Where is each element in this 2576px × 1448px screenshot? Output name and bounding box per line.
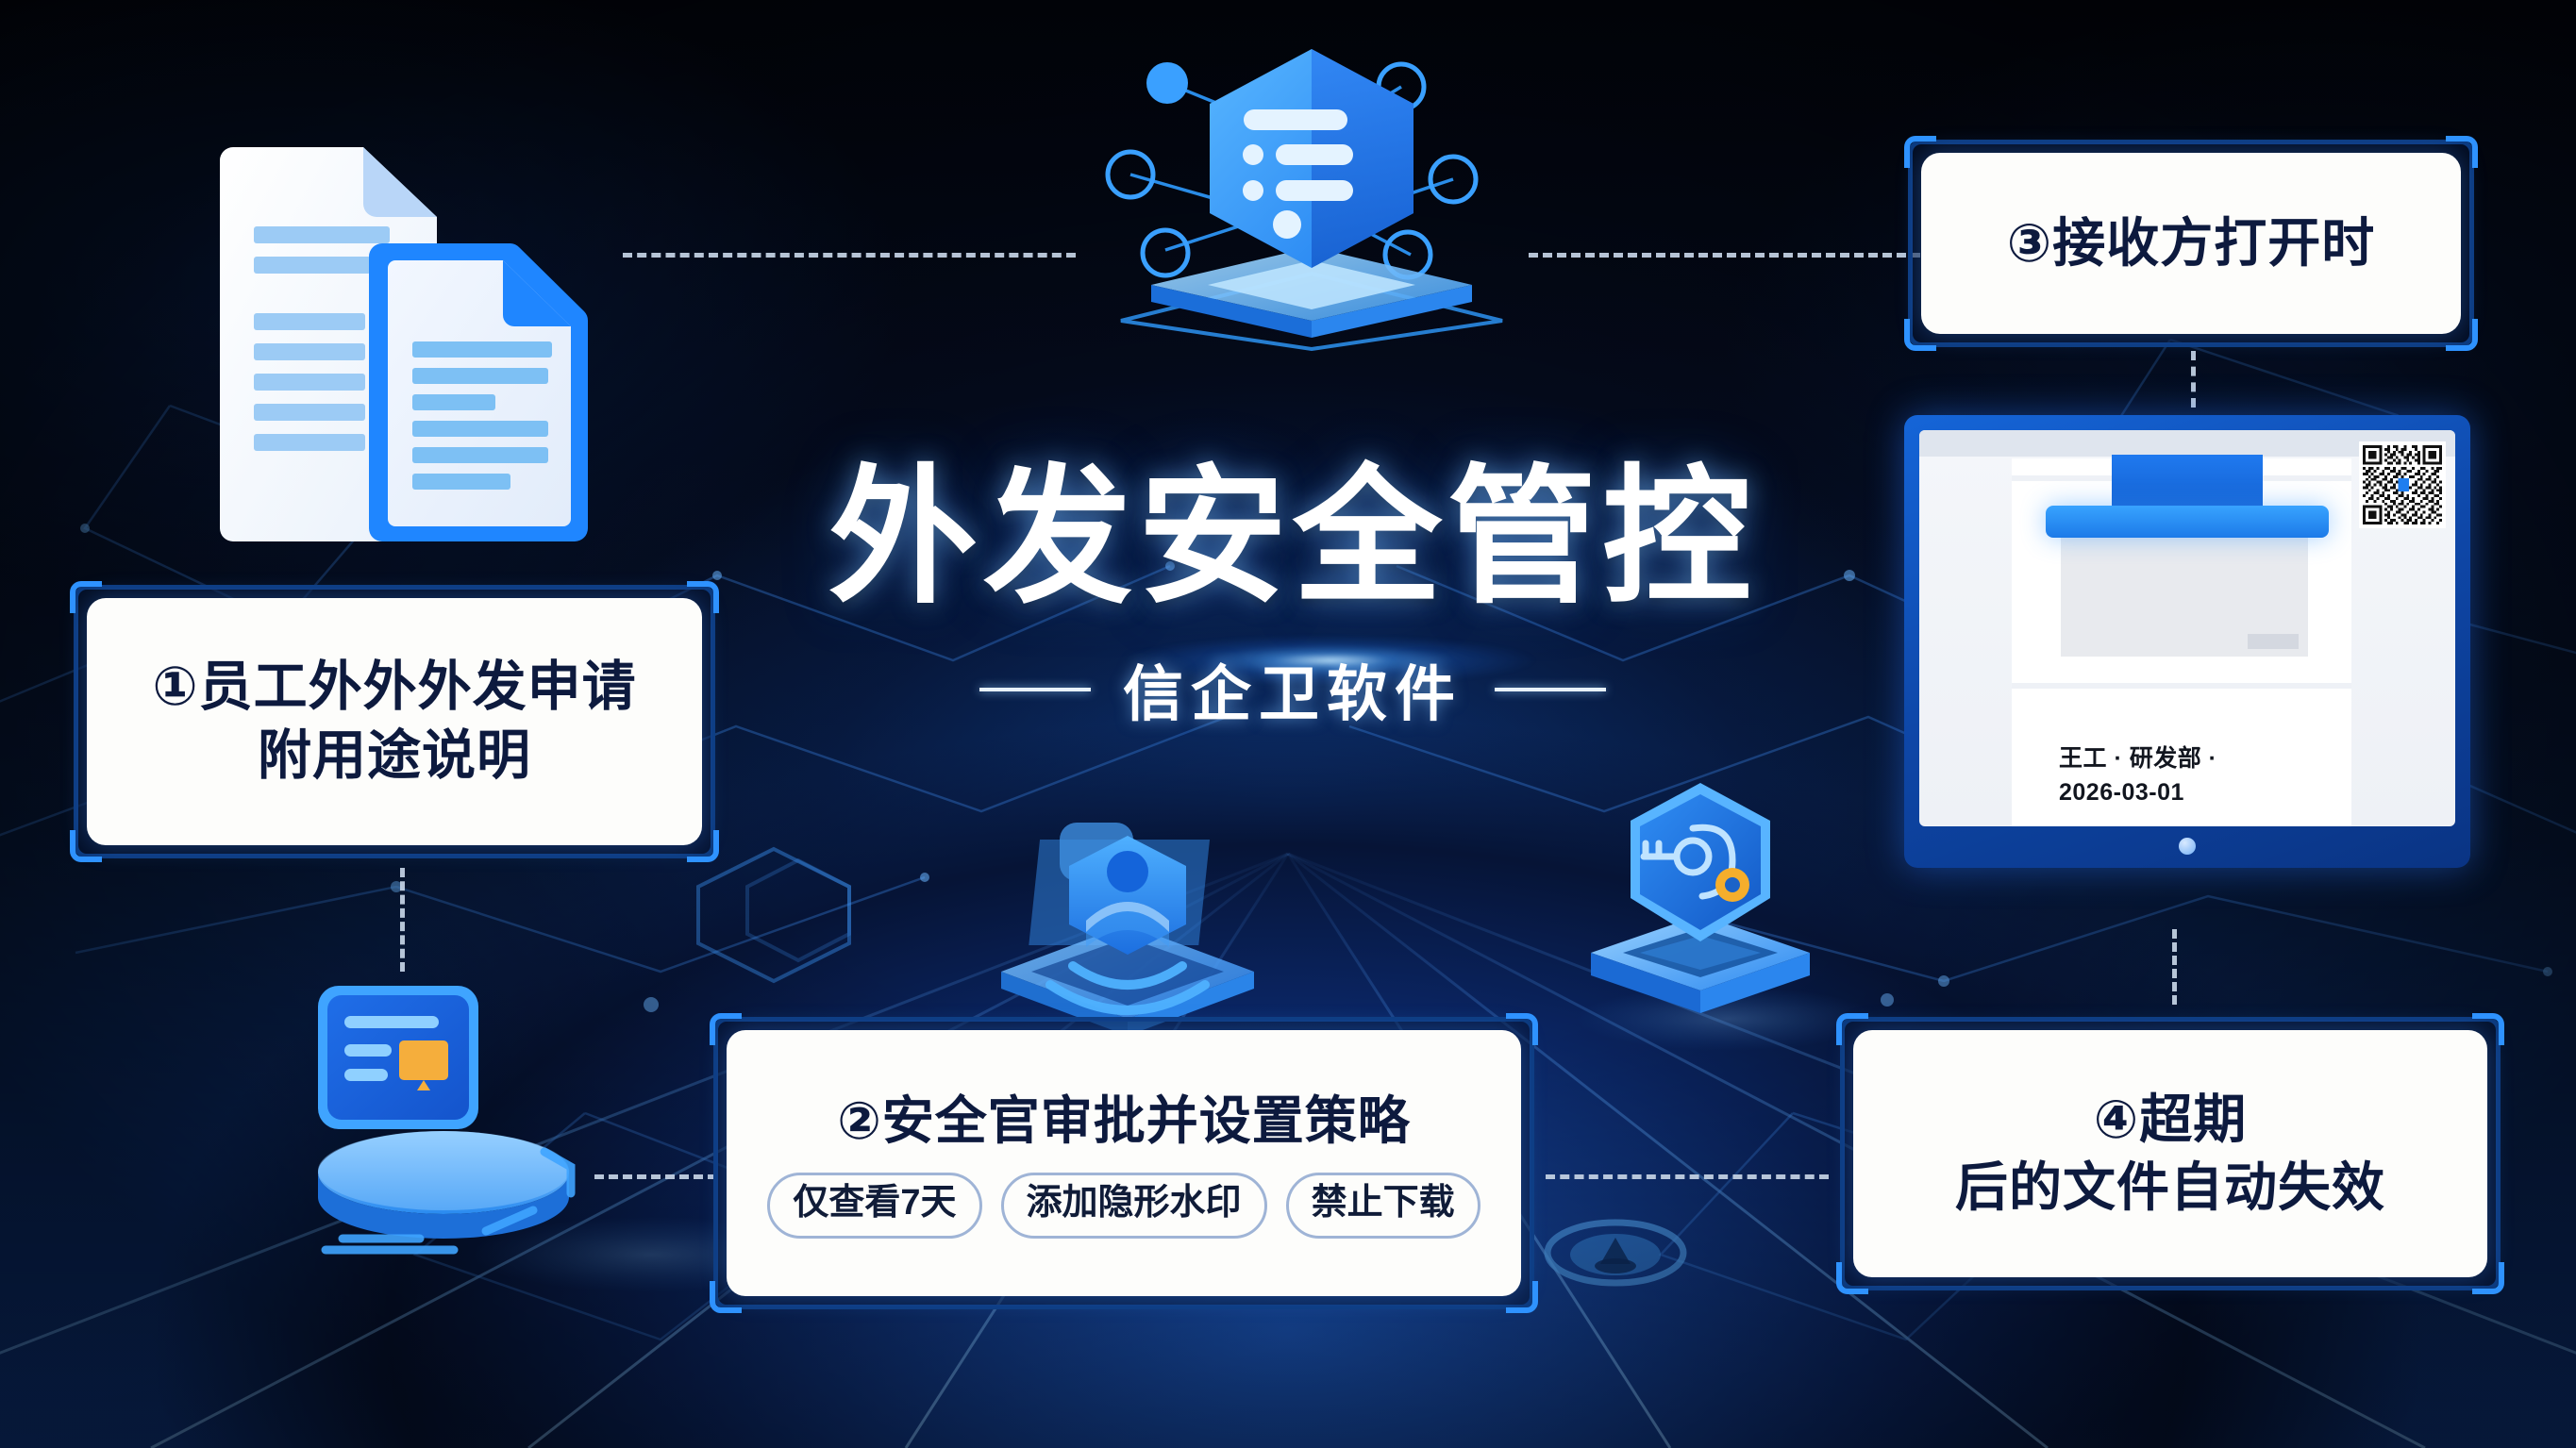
policy-tag-invisible-watermark[interactable]: 添加隐形水印 <box>1001 1173 1267 1239</box>
document-image-placeholder <box>2061 517 2308 657</box>
monitor-base <box>2046 506 2329 538</box>
connector-monitor-to-step4 <box>2172 929 2177 1005</box>
step-card-2[interactable]: ②安全官审批并设置策略 仅查看7天 添加隐形水印 禁止下载 <box>713 1017 1534 1309</box>
title-block: 外发安全管控 信企卫软件 <box>793 462 1793 733</box>
step-card-1-body: ①员工外外外发申请 附用途说明 <box>87 598 702 845</box>
watermark-date: 2026-03-01 <box>2059 775 2342 809</box>
documents-icon <box>203 132 599 557</box>
connector-step2-to-step4 <box>1546 1174 1829 1179</box>
policy-tag-view-7-days[interactable]: 仅查看7天 <box>767 1173 981 1239</box>
step-card-4-line-1: ④超期 <box>2094 1086 2247 1154</box>
watermark-name: 王工 · 研发部 · <box>2059 741 2342 775</box>
watermark-text: 王工 · 研发部 · 2026-03-01 <box>2059 741 2342 810</box>
page-title: 外发安全管控 <box>793 462 1793 614</box>
monitor-indicator-dot <box>2179 838 2196 855</box>
policy-cube-icon <box>1076 38 1547 358</box>
step-card-3-line-1: ③接收方打开时 <box>2007 209 2375 277</box>
step-card-4-line-2: 后的文件自动失效 <box>1955 1154 2385 1222</box>
application-form-icon <box>269 967 618 1269</box>
step-card-3[interactable]: ③接收方打开时 <box>1908 140 2474 347</box>
document-image-caption <box>2248 634 2299 649</box>
step-card-4-body: ④超期 后的文件自动失效 <box>1853 1030 2487 1277</box>
step-card-1-line-1: ①员工外外外发申请 <box>152 653 636 722</box>
step-card-1[interactable]: ①员工外外外发申请 附用途说明 <box>74 585 715 858</box>
qr-code-icon <box>2359 441 2446 528</box>
subtitle-rule-left <box>979 688 1091 691</box>
connector-docs-to-cube <box>623 253 1076 258</box>
step-card-4[interactable]: ④超期 后的文件自动失效 <box>1840 1017 2501 1290</box>
policy-tag-row: 仅查看7天 添加隐形水印 禁止下载 <box>767 1173 1480 1239</box>
document-separator <box>2012 683 2351 689</box>
page-subtitle: 信企卫软件 <box>1123 646 1463 733</box>
step-card-3-body: ③接收方打开时 <box>1921 153 2461 334</box>
connector-step3-to-monitor <box>2191 351 2196 408</box>
poster-stage: 外发安全管控 信企卫软件 ①员工外外外发申请 附用途说明 ②安全官审批并设置策略… <box>0 0 2576 1448</box>
step-card-2-line-1: ②安全官审批并设置策略 <box>837 1088 1411 1154</box>
monitor-neck <box>2112 455 2263 513</box>
policy-tag-no-download[interactable]: 禁止下载 <box>1286 1173 1480 1239</box>
subtitle-rule-right <box>1495 688 1606 691</box>
step-card-2-body: ②安全官审批并设置策略 仅查看7天 添加隐形水印 禁止下载 <box>727 1030 1521 1296</box>
step-card-1-line-2: 附用途说明 <box>258 722 531 791</box>
subtitle-row: 信企卫软件 <box>793 646 1793 733</box>
connector-cube-to-step3 <box>1529 253 1934 258</box>
shield-key-icon <box>1578 766 1823 1049</box>
connector-step1-to-form <box>400 868 405 972</box>
